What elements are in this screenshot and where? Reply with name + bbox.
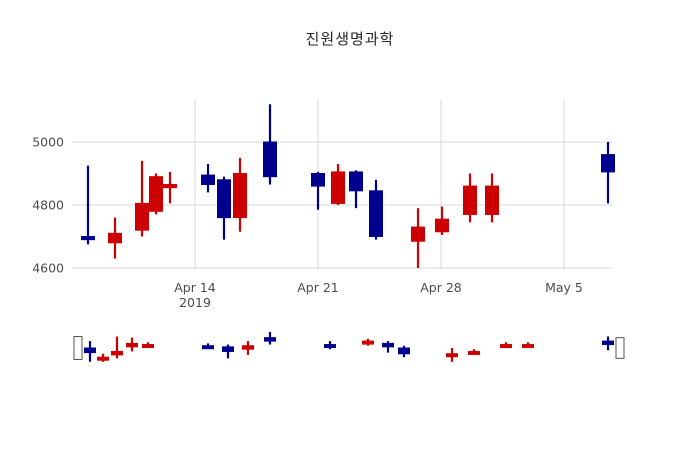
subchart-candlestick — [383, 341, 394, 353]
candle-body — [523, 345, 534, 348]
y-axis-tick-labels: 460048005000 — [32, 135, 64, 276]
candle-body — [464, 186, 477, 214]
subchart-candlestick — [523, 342, 534, 348]
candlestick — [464, 174, 477, 223]
candle-body — [202, 175, 215, 184]
subchart-candlestick — [265, 332, 276, 345]
candlestick — [412, 208, 425, 268]
candlestick — [370, 180, 383, 240]
subchart-candlestick-series — [74, 332, 624, 362]
candle-body — [363, 341, 374, 344]
candlestick — [234, 158, 247, 232]
candle-body — [218, 180, 231, 218]
subchart-candlestick — [74, 337, 82, 360]
candle-body — [136, 203, 149, 230]
candlestick — [436, 207, 449, 235]
candle-body — [370, 191, 383, 237]
candle-body — [265, 338, 276, 341]
subchart-candlestick — [203, 343, 214, 348]
subchart-candlestick — [85, 341, 96, 362]
candlestick — [164, 172, 177, 204]
subchart-candlestick — [325, 341, 336, 349]
candle-body — [602, 155, 615, 172]
candlestick — [312, 172, 325, 210]
chart-title: 진원생명과학 — [0, 28, 700, 49]
candlestick-chart: 진원생명과학 460048005000 Apr 142019Apr 21Apr … — [0, 0, 700, 450]
candle-body — [332, 172, 345, 204]
subchart-candlestick — [363, 339, 374, 346]
candle-body — [325, 345, 336, 348]
x-tick-sublabel: 2019 — [179, 295, 211, 310]
candlestick — [350, 170, 363, 208]
candle-body — [501, 345, 512, 348]
chart-canvas: 460048005000 Apr 142019Apr 21Apr 28May 5 — [0, 0, 700, 450]
x-axis-tick-labels: Apr 142019Apr 21Apr 28May 5 — [174, 280, 583, 310]
candle-body — [486, 186, 499, 214]
candle-body — [203, 346, 214, 349]
candlestick — [150, 174, 163, 215]
subchart-candlestick — [143, 342, 154, 348]
candle-body — [143, 345, 154, 348]
subchart-candlestick — [243, 341, 254, 355]
y-tick-label: 4800 — [32, 198, 64, 213]
candle-body — [82, 237, 95, 240]
candle-body — [412, 227, 425, 241]
x-tick-label: Apr 21 — [297, 280, 339, 295]
x-tick-label: May 5 — [545, 280, 583, 295]
subchart-candlestick — [469, 349, 480, 355]
candle-body — [603, 341, 614, 344]
candlestick — [109, 218, 122, 259]
candle-body — [350, 172, 363, 191]
y-tick-label: 4600 — [32, 261, 64, 276]
candle-body — [436, 219, 449, 232]
x-tick-label: Apr 14 — [174, 280, 216, 295]
candle-body-hollow — [74, 337, 82, 360]
candle-body — [234, 174, 247, 218]
candle-body — [447, 354, 458, 357]
candle-body — [223, 347, 234, 352]
subchart-candlestick — [603, 337, 614, 351]
candle-body — [109, 233, 122, 242]
x-tick-label: Apr 28 — [420, 280, 462, 295]
y-tick-label: 5000 — [32, 135, 64, 150]
candle-body — [312, 174, 325, 187]
candlestick — [218, 177, 231, 240]
candlestick — [202, 164, 215, 192]
candle-body — [383, 343, 394, 346]
candle-body — [112, 351, 123, 354]
subchart-candlestick — [112, 337, 123, 359]
candlestick — [136, 161, 149, 237]
candlestick — [332, 164, 345, 205]
candle-body-hollow — [616, 338, 624, 359]
candlestick — [486, 174, 499, 223]
candle-body — [264, 142, 277, 177]
candlestick-series — [82, 104, 615, 268]
subchart-candlestick — [447, 348, 458, 362]
candle-body — [127, 343, 138, 346]
candle-body — [150, 177, 163, 212]
candle-body — [164, 185, 177, 188]
candle-body — [243, 346, 254, 349]
candle-body — [85, 348, 96, 353]
candle-body — [98, 357, 109, 360]
subchart-candlestick — [98, 354, 109, 362]
subchart-candlestick — [501, 342, 512, 348]
subchart-candlestick — [223, 345, 234, 359]
candlestick — [602, 142, 615, 203]
candle-body — [399, 348, 410, 354]
candle-body — [469, 351, 480, 354]
subchart-candlestick — [616, 338, 624, 359]
subchart-candlestick — [399, 346, 410, 358]
subchart-candlestick — [127, 338, 138, 352]
candlestick — [264, 104, 277, 184]
